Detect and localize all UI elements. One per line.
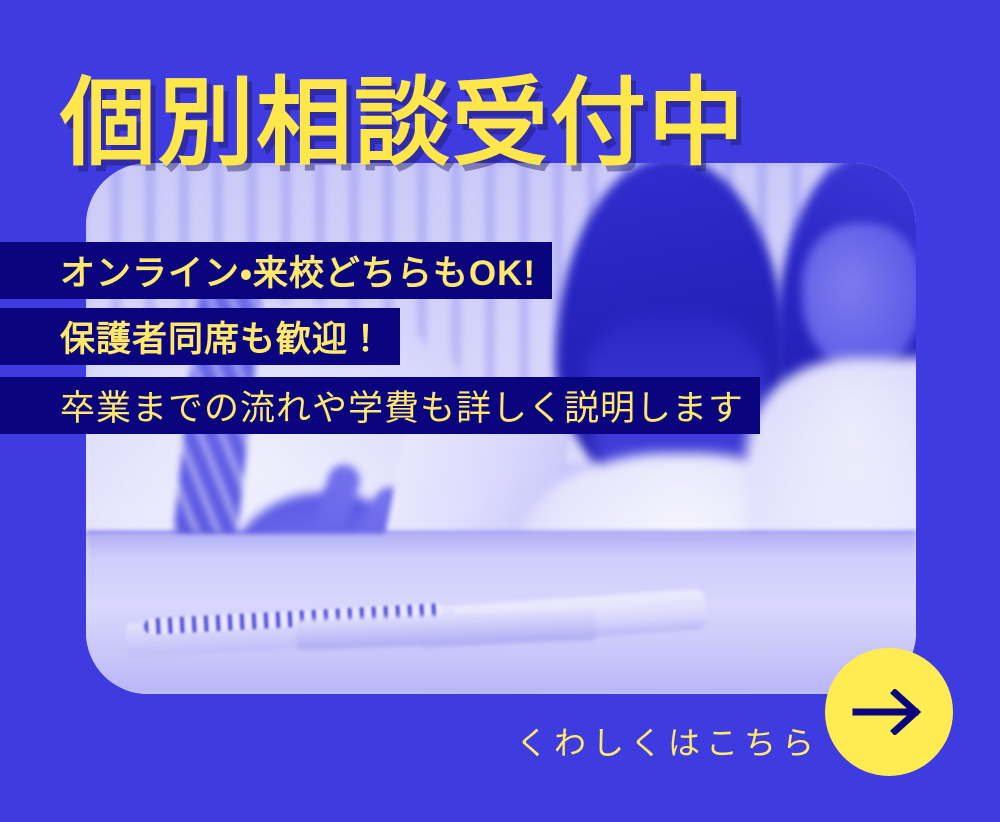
- feature-band-guardian-label: 保護者同席も歓迎！: [60, 311, 384, 362]
- feature-band-online-label: オンライン・来校どちらもOK!: [60, 245, 536, 296]
- feature-band-online: オンライン・来校どちらもOK!: [0, 242, 552, 299]
- arrow-right-icon: [852, 689, 926, 735]
- feature-band-tuition-label: 卒業までの流れや学費も詳しく説明します: [60, 380, 744, 431]
- cta-arrow-button[interactable]: [825, 648, 953, 776]
- page-title: 個別相談受付中: [60, 76, 746, 172]
- photo-woman-right-face: [802, 223, 916, 373]
- feature-band-guardian: 保護者同席も歓迎！: [0, 308, 400, 365]
- feature-band-tuition: 卒業までの流れや学費も詳しく説明します: [0, 377, 760, 434]
- promo-banner: 個別相談受付中 オンライン・来校どちらもOK! 保護者同席も歓迎！ 卒業までの流…: [0, 0, 1000, 822]
- cta-label[interactable]: くわしくはこちら: [516, 718, 820, 764]
